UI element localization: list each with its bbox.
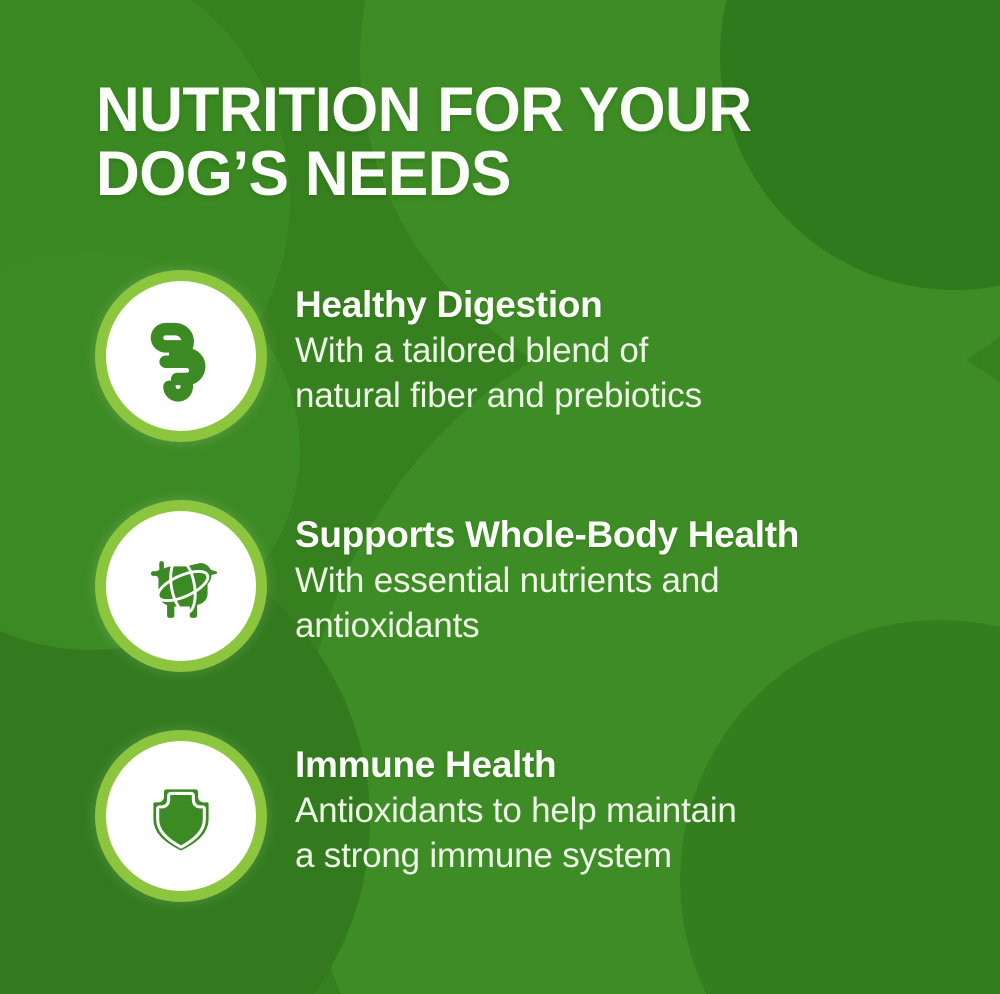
dog-wellness-icon-badge (95, 500, 267, 672)
feature-text-block: Supports Whole-Body Health With essentia… (267, 500, 1000, 648)
feature-title: Supports Whole-Body Health (295, 514, 1000, 555)
feature-item-immune-health: Immune Health Antioxidants to help maint… (0, 730, 1000, 904)
intestine-icon-badge (95, 270, 267, 442)
nutrition-benefits-banner: NUTRITION FOR YOUR DOG’S NEEDS Healthy D… (0, 0, 1000, 994)
page-title: NUTRITION FOR YOUR DOG’S NEEDS (96, 78, 883, 207)
feature-description: With a tailored blend of natural fiber a… (295, 329, 1000, 417)
feature-description: With essential nutrients and antioxidant… (295, 559, 1000, 647)
shield-icon (133, 768, 229, 864)
feature-text-block: Healthy Digestion With a tailored blend … (267, 270, 1000, 418)
intestine-icon (133, 308, 229, 404)
feature-item-whole-body-health: Supports Whole-Body Health With essentia… (0, 500, 1000, 674)
feature-description: Antioxidants to help maintain a strong i… (295, 789, 1000, 877)
shield-icon-badge (95, 730, 267, 902)
feature-title: Healthy Digestion (295, 284, 1000, 325)
feature-list: Healthy Digestion With a tailored blend … (0, 270, 1000, 960)
dog-wellness-icon (133, 538, 229, 634)
feature-title: Immune Health (295, 744, 1000, 785)
feature-item-healthy-digestion: Healthy Digestion With a tailored blend … (0, 270, 1000, 444)
feature-text-block: Immune Health Antioxidants to help maint… (267, 730, 1000, 878)
